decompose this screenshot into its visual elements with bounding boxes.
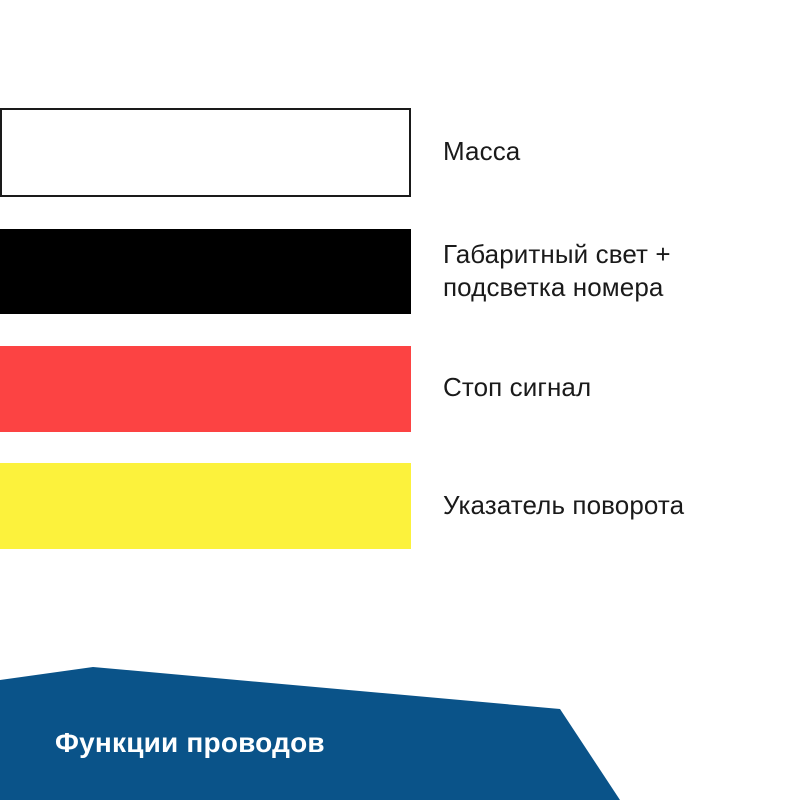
wire-function-label-red: Стоп сигнал: [443, 371, 591, 404]
banner-title: Функции проводов: [55, 727, 325, 759]
wire-function-legend-card: Масса Габаритный свет + подсветка номера…: [0, 0, 800, 800]
wire-function-label-black: Габаритный свет + подсветка номера: [443, 238, 671, 304]
banner-background-shape: [0, 640, 800, 800]
wire-function-label-yellow: Указатель поворота: [443, 489, 684, 522]
wire-color-swatch-white: [0, 108, 411, 197]
wire-color-swatch-black: [0, 229, 411, 314]
wire-function-label-white: Масса: [443, 135, 520, 168]
wire-color-swatch-red: [0, 346, 411, 432]
wire-color-swatch-yellow: [0, 463, 411, 549]
